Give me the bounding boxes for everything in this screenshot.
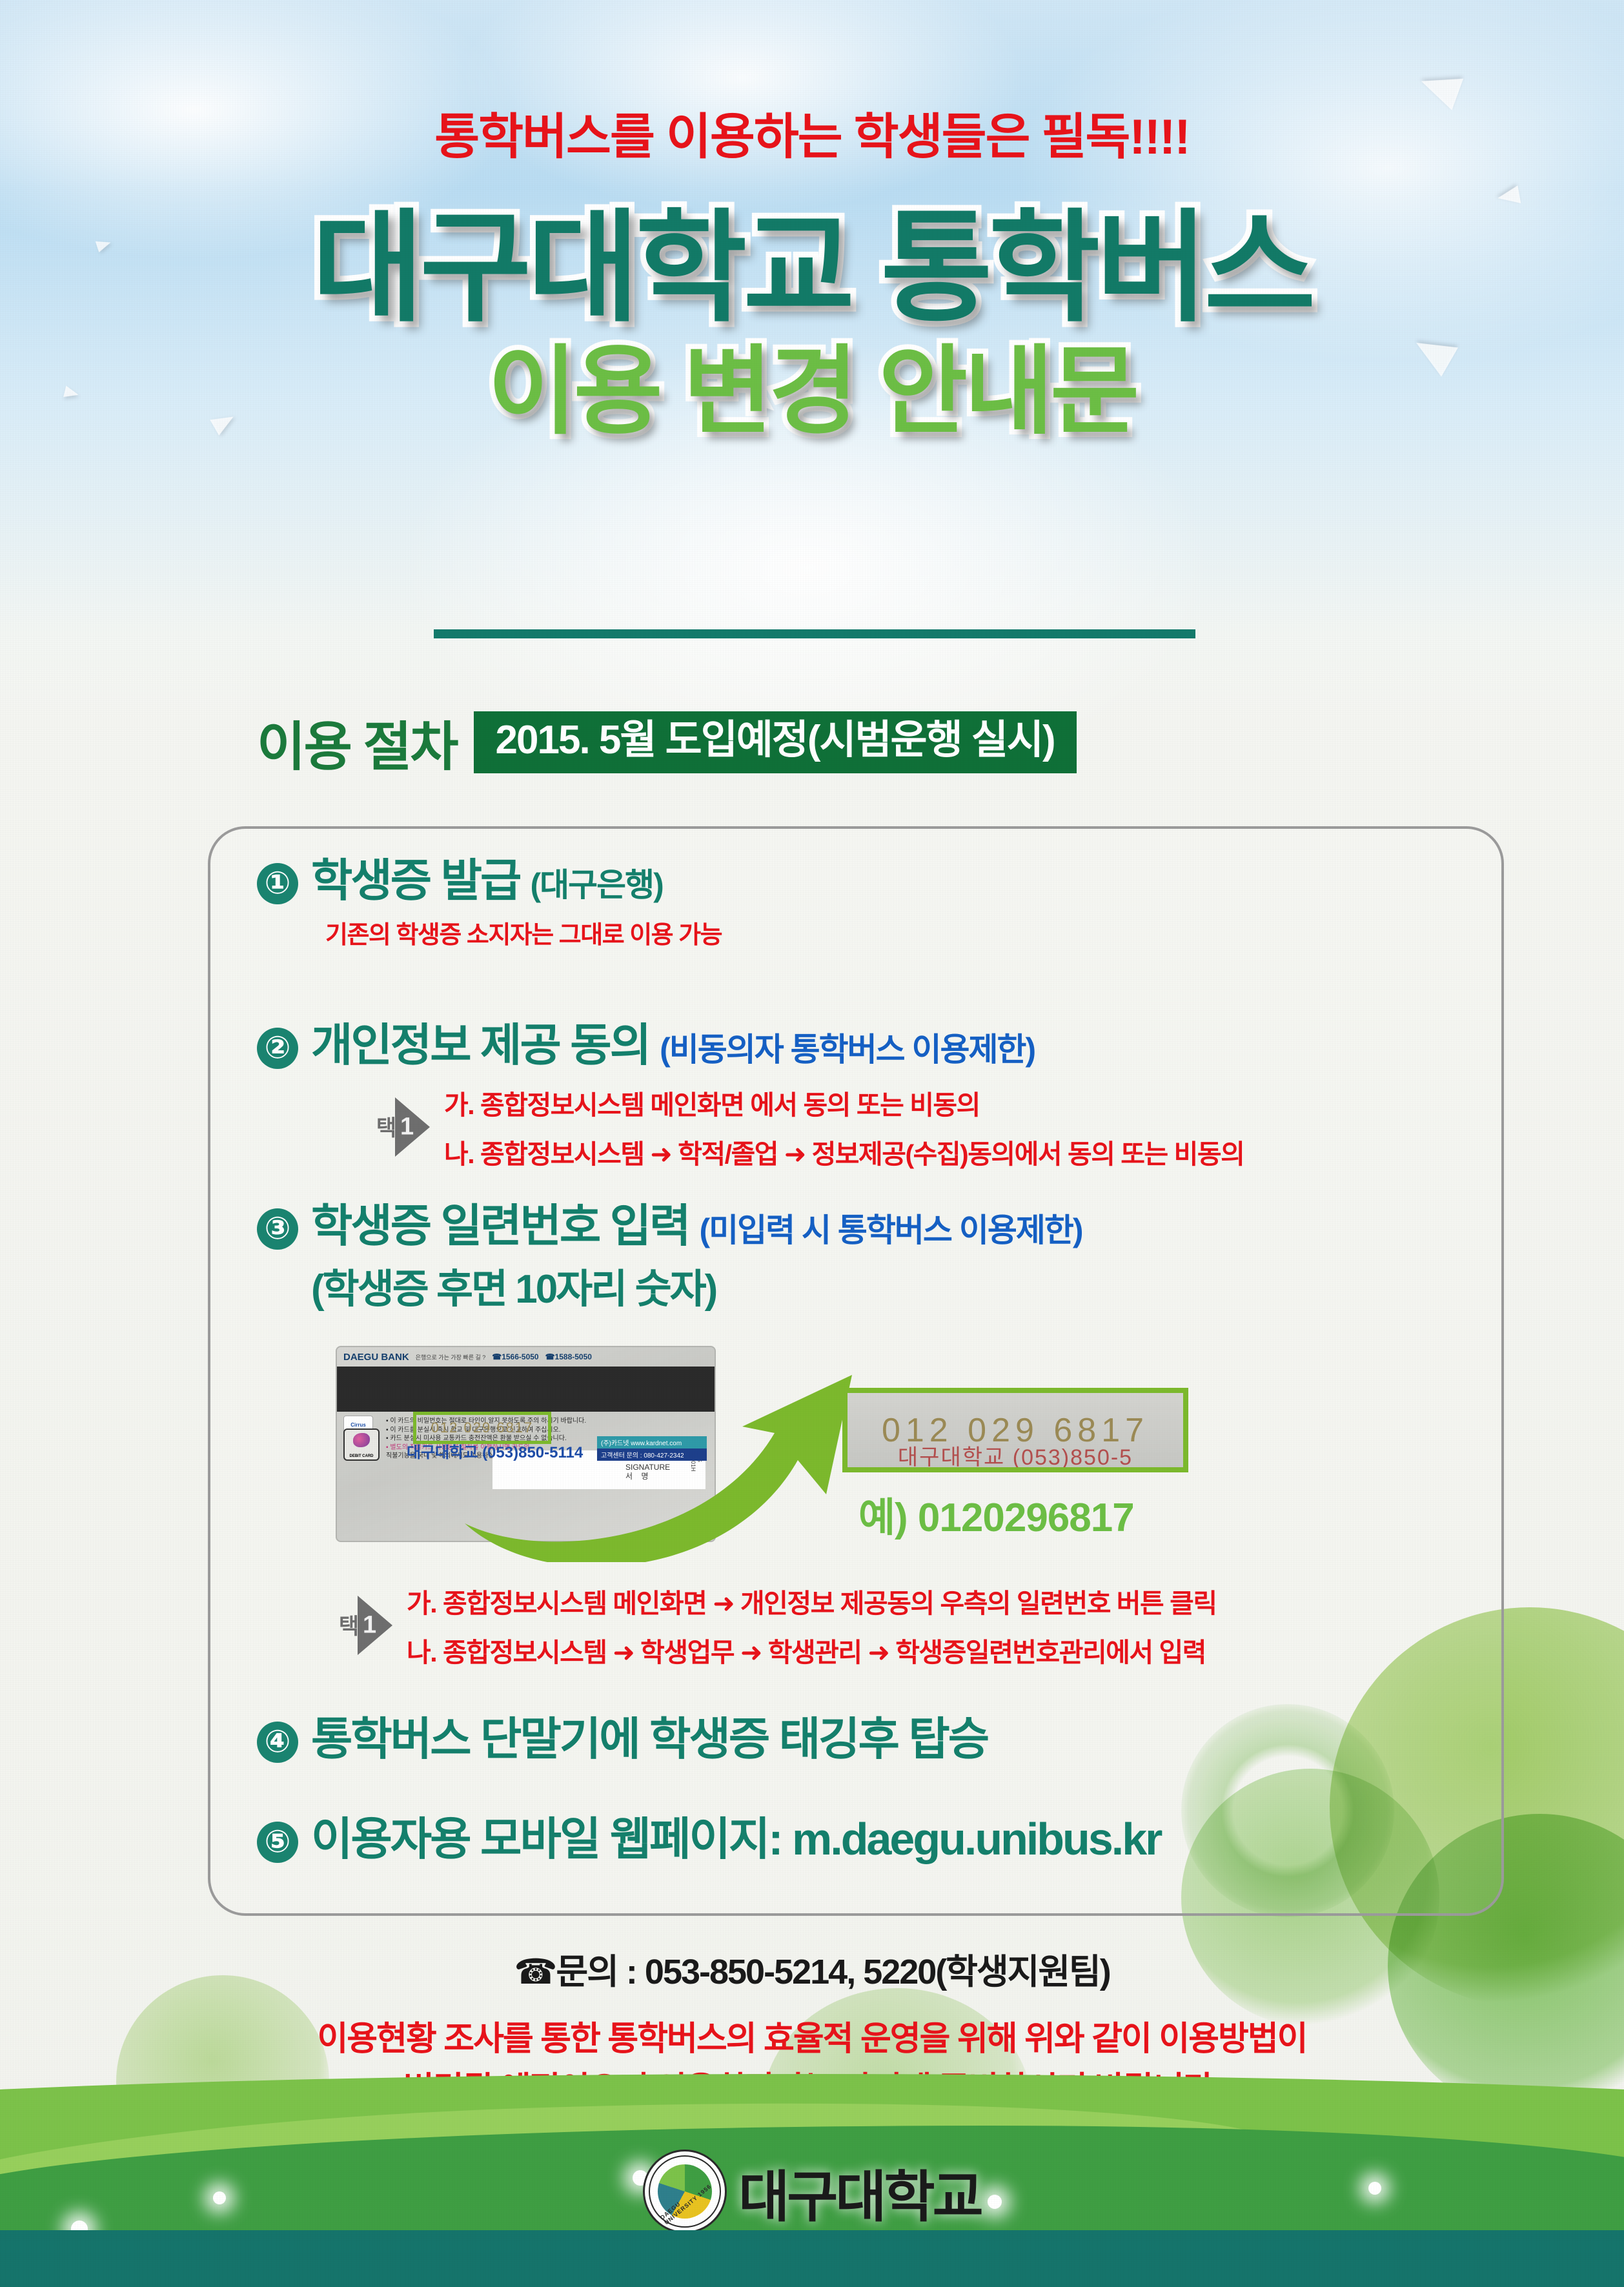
step-3-title: 학생증 일련번호 입력 xyxy=(311,1201,689,1251)
contact-line: ☎문의 : 053-850-5214, 5220(학생지원팀) xyxy=(0,1943,1624,1994)
green-arrow-icon xyxy=(439,1349,891,1562)
pick-label-2: 택 xyxy=(373,1116,395,1138)
step-number-4: ④ xyxy=(257,1722,298,1763)
pick-triangle-3: 1 xyxy=(358,1596,392,1655)
pick-one-marker-3: 택 1 xyxy=(336,1596,392,1655)
paper-plane-icon xyxy=(1496,185,1521,207)
card-bank-name: DAEGU BANK xyxy=(343,1352,409,1363)
step-3-sub-b: 나. 종합정보시스템 ➜ 학생업무 ➜ 학생관리 ➜ 학생증일련번호관리에서 입… xyxy=(407,1631,1217,1669)
pick-triangle-2: 1 xyxy=(395,1097,430,1157)
step-2-sub-a: 가. 종합정보시스템 메인화면 에서 동의 또는 비동의 xyxy=(444,1083,1244,1122)
debit-card-badge-icon: DEBIT CARD xyxy=(343,1428,380,1461)
step-4: ④ 통학버스 단말기에 학생증 태깅후 탑승 xyxy=(257,1714,988,1764)
seal-caption: DAEGU UNIVERSITY 1956 xyxy=(645,2151,725,2231)
university-logo-lockup: DAEGU UNIVERSITY 1956 대구대학교 xyxy=(0,2150,1624,2233)
university-seal-icon: DAEGU UNIVERSITY 1956 xyxy=(643,2150,727,2233)
step-1-title: 학생증 발급 xyxy=(311,855,520,906)
step-3: ③ 학생증 일련번호 입력 (미입력 시 통학버스 이용제한) (학생증 후면 … xyxy=(257,1201,1082,1314)
title-line-1: 대구대학교 통학버스 xyxy=(0,207,1624,330)
step-1: ① 학생증 발급 (대구은행) 기존의 학생증 소지자는 그대로 이용 가능 xyxy=(257,855,722,950)
step-5: ⑤ 이용자용 모바일 웹페이지: m.daegu.unibus.kr xyxy=(257,1814,1161,1864)
section-badge: 2015. 5월 도입예정(시범운행 실시) xyxy=(474,711,1077,773)
step-1-suffix: (대구은행) xyxy=(530,859,662,906)
step-2: ② 개인정보 제공 동의 (비동의자 통학버스 이용제한) 택 1 가. 종합정… xyxy=(257,1020,1244,1171)
pick-count-2: 1 xyxy=(400,1113,414,1141)
pick-label-3: 택 xyxy=(336,1614,358,1636)
debit-card-label: DEBIT CARD xyxy=(345,1454,378,1458)
pick-count-3: 1 xyxy=(363,1612,376,1640)
section-title: 이용 절차 xyxy=(257,704,457,780)
step-2-title: 개인정보 제공 동의 xyxy=(311,1020,649,1070)
step-3-sub-a: 가. 종합정보시스템 메인화면 ➜ 개인정보 제공동의 우측의 일련번호 버튼 … xyxy=(407,1581,1217,1620)
step-2-sub-b: 나. 종합정보시스템 ➜ 학적/졸업 ➜ 정보제공(수집)동의에서 동의 또는 … xyxy=(444,1132,1244,1171)
step-number-5: ⑤ xyxy=(257,1822,298,1863)
title-line-2: 이용 변경 안내문 xyxy=(0,342,1624,441)
notice-line-1: 이용현황 조사를 통한 통학버스의 효율적 운영을 위해 위와 같이 이용방법이 xyxy=(0,2014,1624,2064)
step-number-2: ② xyxy=(257,1028,298,1069)
step-2-suffix: (비동의자 통학버스 이용제한) xyxy=(660,1024,1035,1070)
step-number-1: ① xyxy=(257,863,298,904)
section-header: 이용 절차 2015. 5월 도입예정(시범운행 실시) xyxy=(257,704,1077,780)
callout-underline-text: 대구대학교 (053)850-5 xyxy=(848,1439,1183,1471)
step-3-substeps: 택 1 가. 종합정보시스템 메인화면 ➜ 개인정보 제공동의 우측의 일련번호… xyxy=(336,1581,1217,1669)
step-1-note: 기존의 학생증 소지자는 그대로 이용 가능 xyxy=(325,915,722,950)
serial-zoom-callout: 012 029 6817 대구대학교 (053)850-5 xyxy=(842,1388,1188,1472)
step-3-suffix: (미입력 시 통학버스 이용제한) xyxy=(700,1204,1082,1251)
poster-title: 대구대학교 통학버스 이용 변경 안내문 xyxy=(0,207,1624,441)
pick-one-marker-2: 택 1 xyxy=(373,1097,430,1157)
kicker-text: 통학버스를 이용하는 학생들은 필독!!!! xyxy=(0,97,1624,168)
step-4-title: 통학버스 단말기에 학생증 태깅후 탑승 xyxy=(311,1714,988,1764)
bottom-bar xyxy=(0,2230,1624,2287)
step-5-title: 이용자용 모바일 웹페이지: m.daegu.unibus.kr xyxy=(311,1814,1161,1864)
serial-example-text: 예) 0120296817 xyxy=(858,1485,1134,1543)
university-name: 대구대학교 xyxy=(738,2151,981,2232)
title-divider xyxy=(434,629,1195,638)
step-number-3: ③ xyxy=(257,1208,298,1250)
step-3-second-line: (학생증 후면 10자리 숫자) xyxy=(311,1256,1082,1314)
